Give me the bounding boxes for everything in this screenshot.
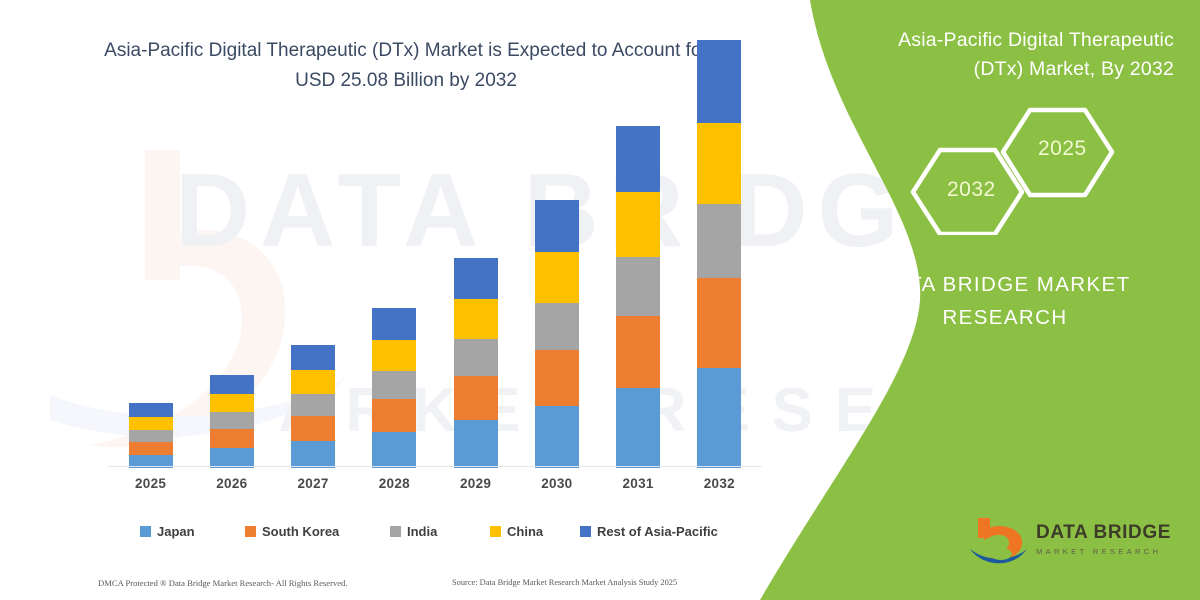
bar-segment [372,371,416,399]
legend-item-rest-of-asia-pacific[interactable]: Rest of Asia-Pacific [580,524,718,539]
x-axis-label-2027: 2027 [278,476,348,491]
x-axis-label-2031: 2031 [603,476,673,491]
brand-name-line1: DATA BRIDGE MARKET [840,268,1170,301]
hexagon-group: 2025 2032 [905,105,1125,235]
bar-segment [372,399,416,432]
bar-2025 [129,403,173,468]
bar-2031 [616,126,660,468]
x-axis-label-2029: 2029 [441,476,511,491]
legend-swatch-icon [390,526,401,537]
legend-label: South Korea [262,524,339,539]
bar-segment [454,258,498,299]
bar-segment [129,442,173,455]
bar-2030 [535,200,579,468]
bar-segment [129,403,173,417]
bar-segment [454,299,498,339]
x-axis-label-2028: 2028 [359,476,429,491]
legend-item-china[interactable]: China [490,524,543,539]
bar-segment [616,316,660,388]
legend-item-south-korea[interactable]: South Korea [245,524,339,539]
bar-segment [535,350,579,406]
legend-swatch-icon [245,526,256,537]
legend-label: China [507,524,543,539]
legend-label: Rest of Asia-Pacific [597,524,718,539]
bar-segment [372,308,416,340]
bar-2026 [210,375,254,468]
bar-segment [454,339,498,376]
bar-2028 [372,308,416,468]
bar-segment [210,394,254,412]
logo-wordmark: DATA BRIDGE MARKET RESEARCH [1036,522,1171,556]
brand-name: DATA BRIDGE MARKET RESEARCH [840,268,1170,334]
bar-segment [454,376,498,420]
bar-segment [616,388,660,468]
bar-segment [291,394,335,416]
bar-segment [535,406,579,468]
bar-segment [616,192,660,257]
bar-segment [291,345,335,370]
x-axis-label-2032: 2032 [684,476,754,491]
footer: DMCA Protected ® Data Bridge Market Rese… [0,570,800,600]
bar-segment [210,448,254,468]
brand-name-line2: RESEARCH [840,301,1170,334]
hexagon-label-2025: 2025 [1038,137,1087,161]
chart-legend: JapanSouth KoreaIndiaChinaRest of Asia-P… [140,524,760,544]
panel-title: Asia-Pacific Digital Therapeutic (DTx) M… [854,26,1174,84]
chart-title: Asia-Pacific Digital Therapeutic (DTx) M… [96,36,716,96]
bar-segment [697,204,741,278]
bar-segment [210,375,254,394]
legend-swatch-icon [140,526,151,537]
logo-name-top: DATA BRIDGE [1036,522,1171,544]
bar-segment [697,278,741,368]
bar-segment [129,430,173,442]
bar-segment [616,257,660,316]
bar-2027 [291,345,335,468]
hexagon-label-2032: 2032 [947,178,996,202]
bar-segment [291,416,335,441]
infographic-canvas: DATA BRIDGE MARKET RESEARCH Asia-Pacific… [0,0,1200,600]
x-axis-label-2026: 2026 [197,476,267,491]
hexagon-outlines-icon [905,105,1125,235]
legend-item-japan[interactable]: Japan [140,524,195,539]
bar-segment [372,340,416,371]
bar-segment [697,40,741,123]
x-axis-line [108,466,762,467]
bar-segment [616,126,660,192]
legend-swatch-icon [580,526,591,537]
bar-segment [454,420,498,468]
bar-segment [291,441,335,468]
x-axis-label-2025: 2025 [116,476,186,491]
bar-segment [129,417,173,430]
bar-segment [697,123,741,204]
x-axis-label-2030: 2030 [522,476,592,491]
brand-panel: Asia-Pacific Digital Therapeutic (DTx) M… [740,0,1200,600]
x-axis-labels: 20252026202720282029203020312032 [110,476,760,498]
bar-segment [372,432,416,468]
bar-segment [535,200,579,252]
legend-label: Japan [157,524,195,539]
logo-name-bottom: MARKET RESEARCH [1036,547,1171,556]
bar-segment [535,252,579,303]
data-bridge-logo-icon [968,516,1030,568]
bar-2029 [454,258,498,468]
legend-item-india[interactable]: India [390,524,437,539]
footer-source-note: Source: Data Bridge Market Research Mark… [452,578,677,587]
legend-swatch-icon [490,526,501,537]
bar-segment [210,412,254,429]
footer-dmca-notice: DMCA Protected ® Data Bridge Market Rese… [98,578,348,588]
company-logo: DATA BRIDGE MARKET RESEARCH [968,516,1178,572]
bar-segment [535,303,579,350]
bar-segment [697,368,741,468]
bar-segment [210,429,254,448]
bar-chart-plot [110,140,760,468]
bar-segment [291,370,335,394]
legend-label: India [407,524,437,539]
bar-2032 [697,40,741,468]
